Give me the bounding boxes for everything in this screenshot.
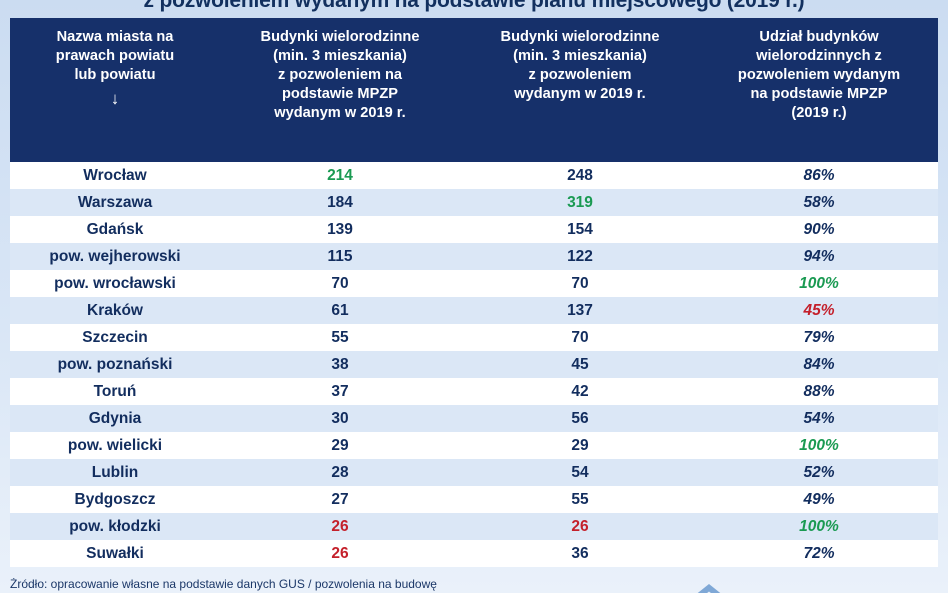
cell-city: Szczecin (10, 324, 220, 351)
page-title-line: z pozwoleniem wydanym na podstawie planu… (144, 0, 805, 12)
column-header-all-permits-line-2: (min. 3 mieszkania) (513, 47, 647, 66)
column-header-share-line-1: Udział budynków (759, 28, 878, 47)
table-row: pow. wrocławski7070100% (10, 270, 938, 297)
cell-all-permits: 70 (460, 324, 700, 351)
sort-descending-arrow-icon[interactable]: ↓ (111, 90, 120, 107)
cell-mpzp-permits: 26 (220, 540, 460, 567)
table-row: Toruń374288% (10, 378, 938, 405)
cell-share: 52% (700, 459, 938, 486)
cell-mpzp-permits: 38 (220, 351, 460, 378)
table-row: Wrocław21424886% (10, 162, 938, 189)
cell-share: 84% (700, 351, 938, 378)
cell-mpzp-permits: 28 (220, 459, 460, 486)
cell-city: pow. poznański (10, 351, 220, 378)
cell-city: Bydgoszcz (10, 486, 220, 513)
table-row: Suwałki263672% (10, 540, 938, 567)
cell-mpzp-permits: 61 (220, 297, 460, 324)
cell-share: 94% (700, 243, 938, 270)
cell-city: Gdynia (10, 405, 220, 432)
cell-mpzp-permits: 184 (220, 189, 460, 216)
table-row: Szczecin557079% (10, 324, 938, 351)
column-header-share-line-2: wielorodzinnych z (756, 47, 882, 66)
cell-share: 54% (700, 405, 938, 432)
cell-all-permits: 122 (460, 243, 700, 270)
column-header-share[interactable]: Udział budynków wielorodzinnych z pozwol… (700, 18, 938, 162)
cell-mpzp-permits: 70 (220, 270, 460, 297)
cell-city: Wrocław (10, 162, 220, 189)
roof-logo-icon (682, 582, 736, 593)
cell-mpzp-permits: 139 (220, 216, 460, 243)
table-row: Kraków6113745% (10, 297, 938, 324)
cell-city: Kraków (10, 297, 220, 324)
cell-all-permits: 56 (460, 405, 700, 432)
cell-city: Gdańsk (10, 216, 220, 243)
column-header-share-line-5: (2019 r.) (791, 104, 846, 123)
cell-all-permits: 54 (460, 459, 700, 486)
column-header-all-permits[interactable]: Budynki wielorodzinne (min. 3 mieszkania… (460, 18, 700, 162)
table-row: Gdynia305654% (10, 405, 938, 432)
cell-share: 45% (700, 297, 938, 324)
cell-city: pow. kłodzki (10, 513, 220, 540)
cell-share: 100% (700, 270, 938, 297)
cell-share: 72% (700, 540, 938, 567)
page-title: z pozwoleniem wydanym na podstawie planu… (0, 0, 948, 12)
column-header-share-line-4: na podstawie MPZP (750, 85, 887, 104)
cell-all-permits: 319 (460, 189, 700, 216)
footer: Źródło: opracowanie własne na podstawie … (0, 578, 948, 593)
cell-city: Warszawa (10, 189, 220, 216)
footer-source-note: Źródło: opracowanie własne na podstawie … (10, 578, 437, 591)
cell-city: pow. wejherowski (10, 243, 220, 270)
table-header-row: Nazwa miasta na prawach powiatu lub powi… (10, 18, 938, 162)
cell-share: 100% (700, 432, 938, 459)
data-table: Nazwa miasta na prawach powiatu lub powi… (10, 18, 938, 567)
column-header-share-line-3: pozwoleniem wydanym (738, 66, 900, 85)
cell-all-permits: 45 (460, 351, 700, 378)
cell-all-permits: 137 (460, 297, 700, 324)
table-row: Bydgoszcz275549% (10, 486, 938, 513)
cell-mpzp-permits: 37 (220, 378, 460, 405)
cell-city: pow. wielicki (10, 432, 220, 459)
cell-all-permits: 55 (460, 486, 700, 513)
column-header-mpzp-permits[interactable]: Budynki wielorodzinne (min. 3 mieszkania… (220, 18, 460, 162)
cell-all-permits: 70 (460, 270, 700, 297)
cell-mpzp-permits: 55 (220, 324, 460, 351)
column-header-city[interactable]: Nazwa miasta na prawach powiatu lub powi… (10, 18, 220, 162)
column-header-city-line-3: lub powiatu (74, 66, 155, 85)
column-header-mpzp-permits-line-4: podstawie MPZP (282, 85, 398, 104)
table-row: Warszawa18431958% (10, 189, 938, 216)
cell-share: 58% (700, 189, 938, 216)
cell-share: 79% (700, 324, 938, 351)
table-row: Gdańsk13915490% (10, 216, 938, 243)
cell-mpzp-permits: 26 (220, 513, 460, 540)
table-row: pow. wejherowski11512294% (10, 243, 938, 270)
cell-city: Toruń (10, 378, 220, 405)
cell-all-permits: 42 (460, 378, 700, 405)
column-header-mpzp-permits-line-5: wydanym w 2019 r. (274, 104, 405, 123)
cell-all-permits: 248 (460, 162, 700, 189)
cell-city: Lublin (10, 459, 220, 486)
cell-all-permits: 26 (460, 513, 700, 540)
cell-mpzp-permits: 30 (220, 405, 460, 432)
cell-all-permits: 154 (460, 216, 700, 243)
cell-all-permits: 29 (460, 432, 700, 459)
cell-city: pow. wrocławski (10, 270, 220, 297)
column-header-all-permits-line-1: Budynki wielorodzinne (501, 28, 660, 47)
table-row: Lublin285452% (10, 459, 938, 486)
cell-share: 88% (700, 378, 938, 405)
cell-mpzp-permits: 214 (220, 162, 460, 189)
cell-city: Suwałki (10, 540, 220, 567)
cell-share: 90% (700, 216, 938, 243)
column-header-all-permits-line-3: z pozwoleniem (529, 66, 632, 85)
cell-all-permits: 36 (460, 540, 700, 567)
cell-share: 100% (700, 513, 938, 540)
column-header-mpzp-permits-line-2: (min. 3 mieszkania) (273, 47, 407, 66)
cell-mpzp-permits: 29 (220, 432, 460, 459)
column-header-all-permits-line-4: wydanym w 2019 r. (514, 85, 645, 104)
table-row: pow. kłodzki2626100% (10, 513, 938, 540)
column-header-city-line-1: Nazwa miasta na (57, 28, 174, 47)
cell-share: 49% (700, 486, 938, 513)
page-root: z pozwoleniem wydanym na podstawie planu… (0, 0, 948, 593)
column-header-mpzp-permits-line-1: Budynki wielorodzinne (261, 28, 420, 47)
cell-mpzp-permits: 27 (220, 486, 460, 513)
table-body: Wrocław21424886%Warszawa18431958%Gdańsk1… (10, 162, 938, 567)
column-header-mpzp-permits-line-3: z pozwoleniem na (278, 66, 402, 85)
cell-share: 86% (700, 162, 938, 189)
table-row: pow. poznański384584% (10, 351, 938, 378)
column-header-city-line-2: prawach powiatu (56, 47, 174, 66)
cell-mpzp-permits: 115 (220, 243, 460, 270)
table-row: pow. wielicki2929100% (10, 432, 938, 459)
